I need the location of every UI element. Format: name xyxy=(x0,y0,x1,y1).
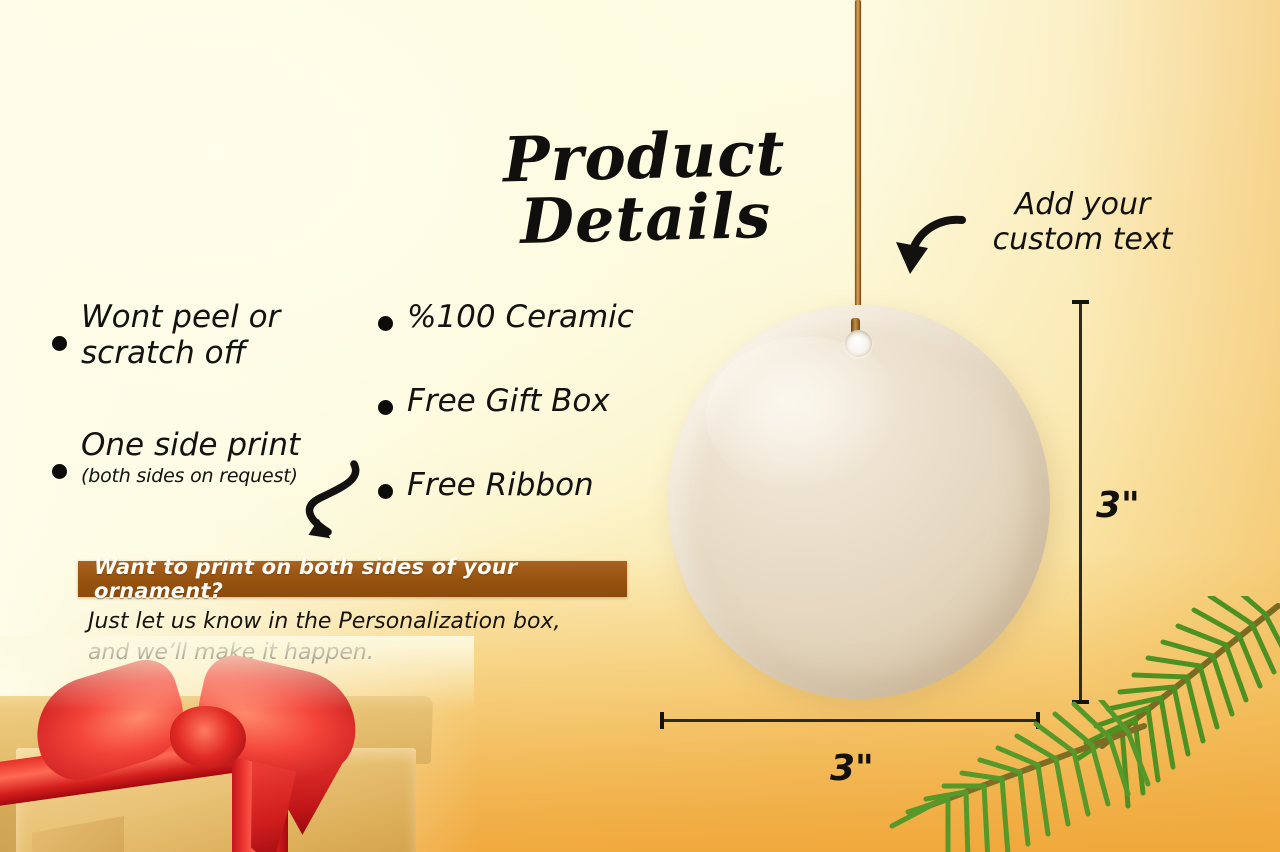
feature-sub-note: (both sides on request) xyxy=(81,465,300,487)
ornament-highlight xyxy=(706,337,905,495)
list-item: Wont peel or scratch off xyxy=(52,300,382,372)
list-item: %100 Ceramic xyxy=(378,300,653,336)
ceramic-ornament xyxy=(668,305,1050,699)
dimension-cap-left xyxy=(660,712,664,729)
dimension-cap-top xyxy=(1072,300,1089,304)
feature-label: Wont peel or scratch off xyxy=(81,300,280,372)
gift-box-image xyxy=(0,636,474,852)
feature-main-text: One side print xyxy=(81,427,300,463)
hanging-cord xyxy=(855,0,861,345)
bullet-dot-icon xyxy=(52,336,67,351)
feature-label: One side print (both sides on request) xyxy=(81,428,300,487)
curved-arrow-to-ornament-icon xyxy=(890,212,970,292)
feature-label: Free Gift Box xyxy=(407,384,610,420)
bullet-dot-icon xyxy=(52,464,67,479)
ornament-hole xyxy=(845,330,872,357)
bullet-dot-icon xyxy=(378,400,393,415)
curved-arrow-down-icon xyxy=(288,458,378,553)
features-right-column: %100 Ceramic Free Gift Box Free Ribbon xyxy=(378,300,653,552)
pine-branch-lower xyxy=(852,700,1152,852)
banner-headline: Want to print on both sides of your orna… xyxy=(78,555,627,603)
feature-label: %100 Ceramic xyxy=(407,300,634,336)
dimension-height-label: 3" xyxy=(1096,485,1140,526)
add-custom-text-note: Add your custom text xyxy=(975,188,1190,258)
list-item: Free Gift Box xyxy=(378,384,653,420)
feature-label: Free Ribbon xyxy=(407,468,594,504)
bullet-dot-icon xyxy=(378,484,393,499)
both-sides-banner: Want to print on both sides of your orna… xyxy=(78,561,627,597)
page-title: Product Details xyxy=(429,121,862,255)
product-details-graphic: Product Details Wont peel or scratch off… xyxy=(0,0,1280,852)
list-item: Free Ribbon xyxy=(378,468,653,504)
bow-knot xyxy=(170,706,246,768)
bullet-dot-icon xyxy=(378,316,393,331)
